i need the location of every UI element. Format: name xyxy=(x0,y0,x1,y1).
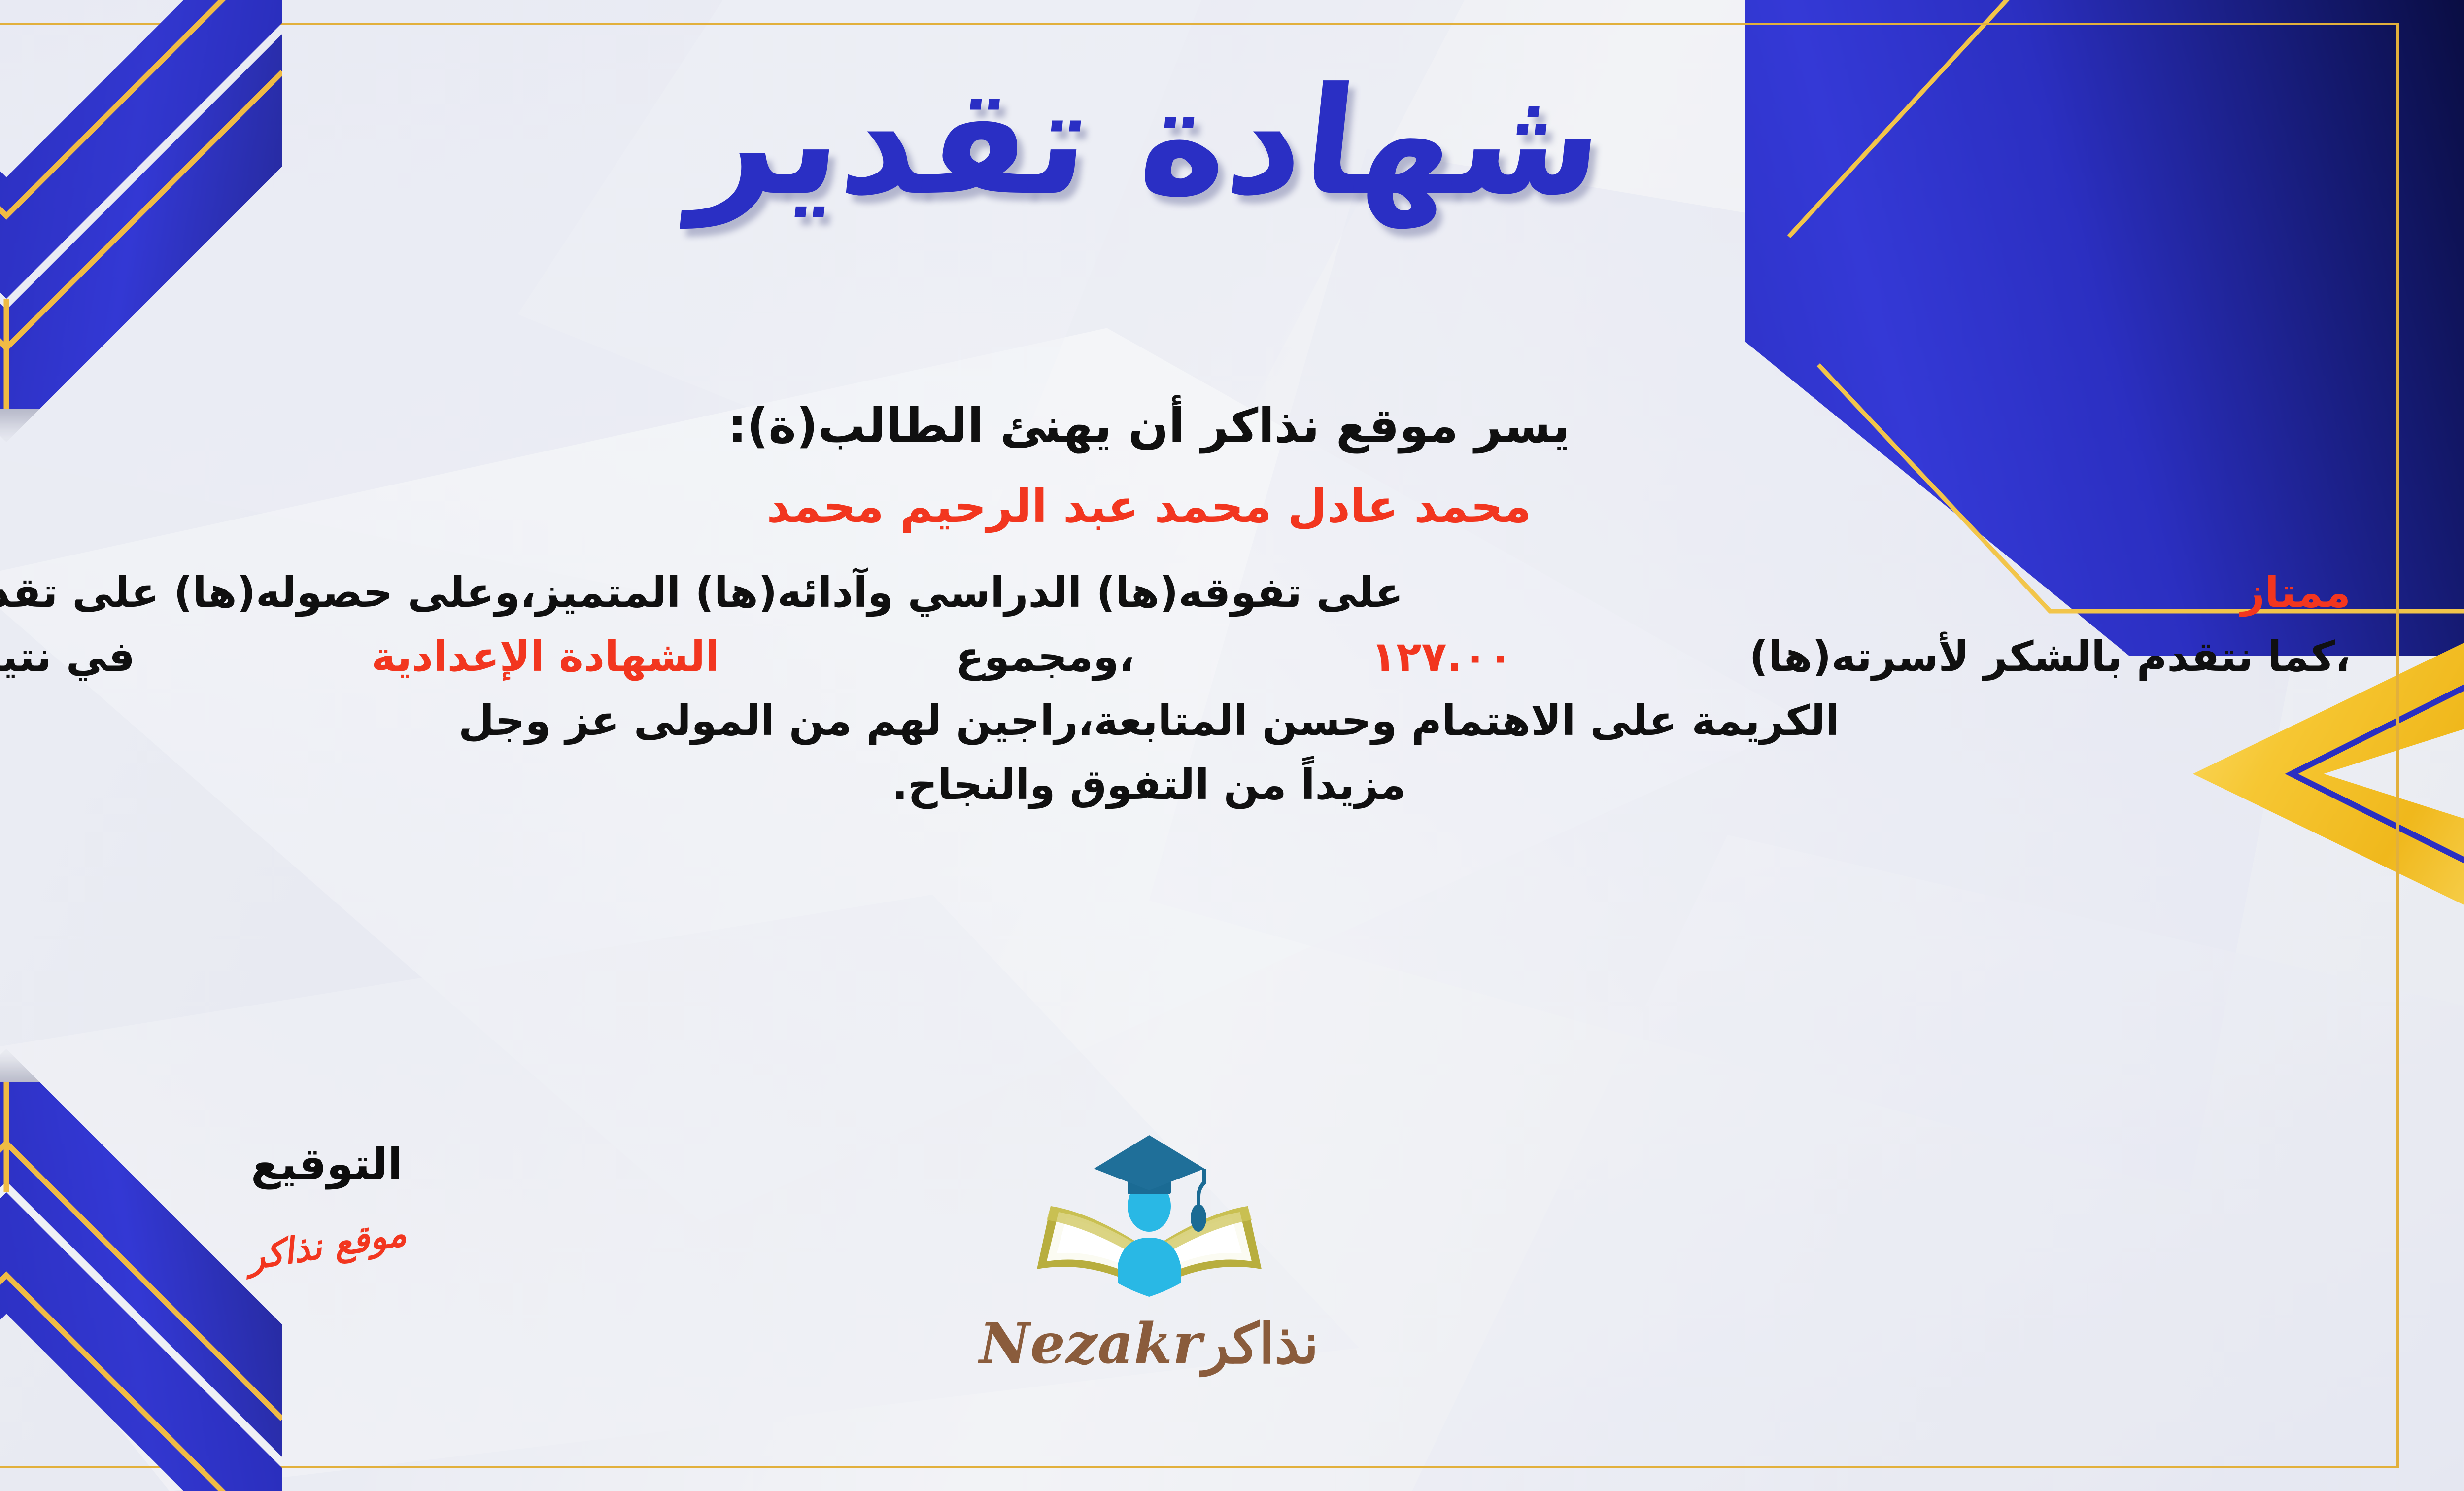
body-line-2-suffix: ،كما نتقدم بالشكر لأسرته(ها) xyxy=(1749,624,2351,689)
logo-arabic: نذاكر xyxy=(1202,1312,1319,1376)
page-title: شهادة تقدير xyxy=(687,64,1611,219)
body-line-2-middle: ،ومجموع xyxy=(956,624,1134,689)
body-line-1: ممتاز على تفوقه(ها) الدراسي وآدائه(ها) ا… xyxy=(0,560,2351,624)
body-paragraph: ممتاز على تفوقه(ها) الدراسي وآدائه(ها) ا… xyxy=(0,560,2351,817)
grade-value: ممتاز xyxy=(2241,560,2351,624)
body-line-3: الكريمة على الاهتمام وحسن المتابعة،راجين… xyxy=(0,689,2351,753)
logo-latin: Nezakr xyxy=(979,1312,1202,1376)
student-name: محمد عادل محمد عبد الرحيم محمد xyxy=(0,480,2351,533)
graduation-book-icon xyxy=(1021,1121,1277,1318)
certificate-canvas: شهادة تقدير يسر موقع نذاكر أن يهنئ الطال… xyxy=(0,0,2464,1491)
body-line-2-prefix: في نتيجة xyxy=(0,624,135,689)
exam-name-value: الشهادة الإعدادية xyxy=(371,624,719,689)
body-line-2: ،كما نتقدم بالشكر لأسرته(ها) ١٢٧.٠٠ ،ومج… xyxy=(0,624,2351,689)
certificate-body: يسر موقع نذاكر أن يهنئ الطالب(ة): محمد ع… xyxy=(0,394,2351,817)
logo-wordmark: نذاكرNezakr xyxy=(0,1312,2464,1376)
body-line-1-text: على تفوقه(ها) الدراسي وآدائه(ها) المتميز… xyxy=(0,560,1403,624)
certificate-title-area: شهادة تقدير xyxy=(0,64,2464,219)
body-line-4: مزيداً من التفوق والنجاح. xyxy=(0,753,2351,817)
total-score-value: ١٢٧.٠٠ xyxy=(1371,624,1513,689)
brand-logo: نذاكرNezakr xyxy=(0,1121,2464,1376)
intro-line: يسر موقع نذاكر أن يهنئ الطالب(ة): xyxy=(0,394,2351,458)
